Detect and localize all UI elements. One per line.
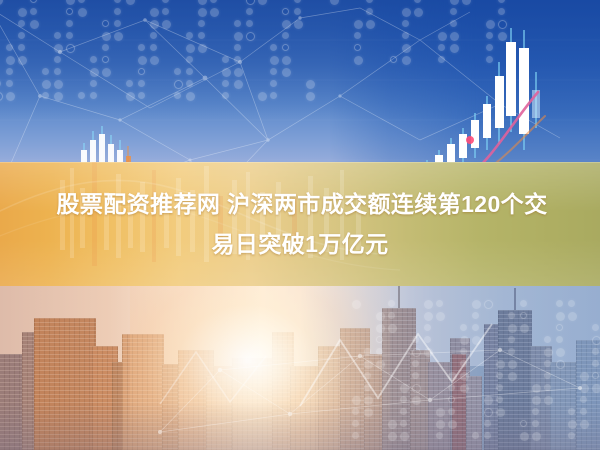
headline-text-block: 股票配资推荐网 沪深两市成交额连续第120个交 易日突破1万亿元 <box>0 162 600 286</box>
headline-line-2: 易日突破1万亿元 <box>212 224 389 264</box>
city-zigzag-line <box>0 286 600 450</box>
headline-line-1: 股票配资推荐网 沪深两市成交额连续第120个交 <box>53 184 548 224</box>
news-banner-image: 股票配资推荐网 沪深两市成交额连续第120个交 易日突破1万亿元 <box>0 0 600 450</box>
